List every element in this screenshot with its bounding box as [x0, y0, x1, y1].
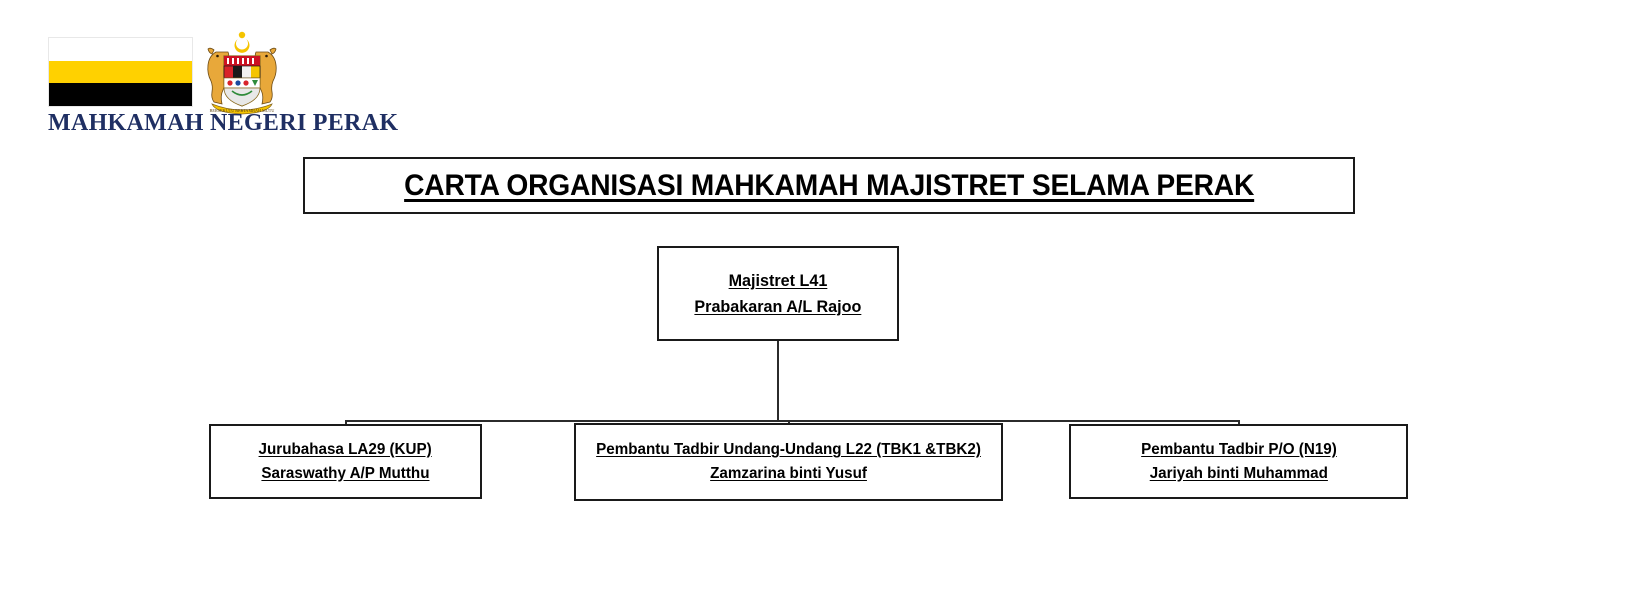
org-node-name: Saraswathy A/P Mutthu: [261, 462, 429, 486]
org-node-pembantu-tadbir-undang-undang: Pembantu Tadbir Undang-Undang L22 (TBK1 …: [574, 423, 1003, 501]
connector-horizontal-bus: [345, 420, 1239, 422]
flag-band-black: [49, 83, 192, 106]
chart-title-box: CARTA ORGANISASI MAHKAMAH MAJISTRET SELA…: [303, 157, 1355, 214]
org-node-position: Pembantu Tadbir P/O (N19): [1141, 438, 1337, 462]
connector-root-drop: [777, 341, 779, 421]
org-node-majistret: Majistret L41 Prabakaran A/L Rajoo: [657, 246, 899, 341]
letterhead: BERSEKUTU BERTAMBAH MUTU MAHKAMAH NEGERI…: [48, 30, 468, 140]
org-node-name: Jariyah binti Muhammad: [1149, 462, 1327, 486]
malaysia-coat-of-arms-icon: BERSEKUTU BERTAMBAH MUTU: [188, 30, 296, 122]
org-node-pembantu-tadbir-po: Pembantu Tadbir P/O (N19) Jariyah binti …: [1069, 424, 1408, 499]
org-node-position: Majistret L41: [729, 268, 828, 294]
page-title: CARTA ORGANISASI MAHKAMAH MAJISTRET SELA…: [404, 169, 1254, 203]
org-node-jurubahasa: Jurubahasa LA29 (KUP) Saraswathy A/P Mut…: [209, 424, 482, 499]
org-node-position: Jurubahasa LA29 (KUP): [259, 438, 432, 462]
org-node-position: Pembantu Tadbir Undang-Undang L22 (TBK1 …: [596, 438, 981, 462]
org-node-name: Prabakaran A/L Rajoo: [695, 294, 862, 320]
flag-band-white: [49, 38, 192, 61]
org-node-name: Zamzarina binti Yusuf: [710, 462, 867, 486]
flag-band-yellow: [49, 61, 192, 84]
organization-name: MAHKAMAH NEGERI PERAK: [48, 110, 398, 137]
perak-state-flag: [48, 37, 193, 107]
